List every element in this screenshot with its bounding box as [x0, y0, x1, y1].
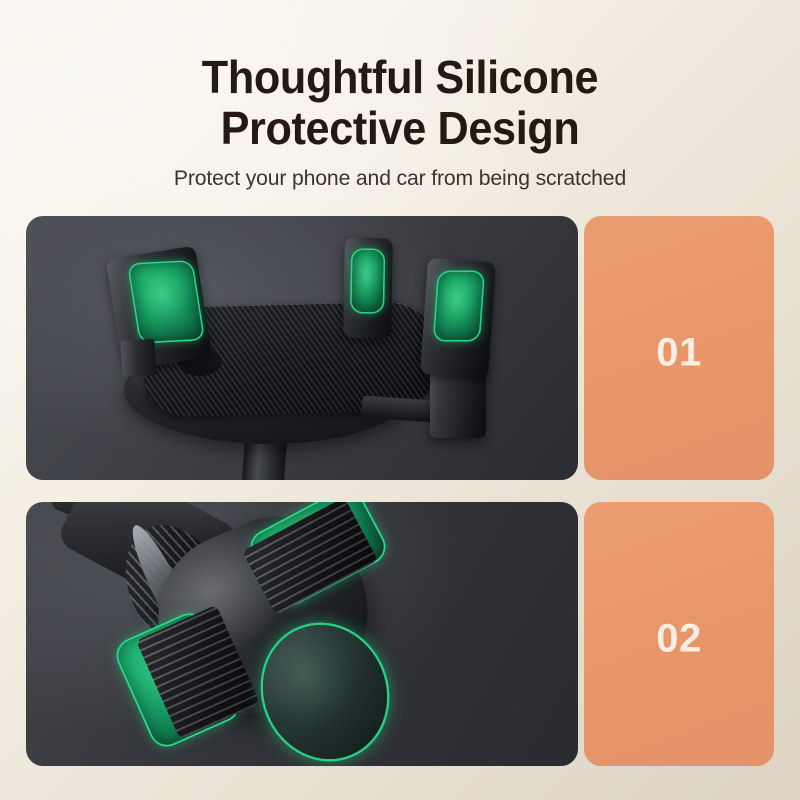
headline-line-1: Thoughtful Silicone: [24, 52, 776, 103]
product-infographic: Thoughtful Silicone Protective Design Pr…: [0, 0, 800, 800]
headline-line-2: Protective Design: [24, 103, 776, 154]
grip-arm-center: [343, 238, 393, 339]
badge-number: 01: [584, 331, 774, 376]
page-subtitle: Protect your phone and car from being sc…: [6, 153, 794, 191]
grip-arm-foot: [120, 339, 156, 377]
silicone-pad-green: [129, 262, 203, 342]
silicone-pad-green: [434, 272, 483, 340]
product-photo-vent-clip: [26, 502, 578, 766]
page-title: Thoughtful Silicone Protective Design: [24, 0, 776, 153]
grip-arm-right: [420, 258, 496, 378]
feature-row: UGREEN 01: [26, 216, 774, 480]
feature-list: UGREEN 01: [26, 216, 774, 788]
silicone-pad-green: [352, 250, 384, 313]
cradle-illustration: UGREEN: [26, 216, 578, 480]
feature-row: 02: [26, 502, 774, 766]
grip-arm-left: [106, 246, 212, 371]
feature-number-badge: 02: [584, 502, 774, 766]
vent-clip-illustration: [26, 502, 578, 766]
badge-number: 02: [584, 617, 774, 662]
header: Thoughtful Silicone Protective Design Pr…: [0, 0, 800, 191]
feature-number-badge: 01: [584, 216, 774, 480]
product-photo-cradle: UGREEN: [26, 216, 578, 480]
